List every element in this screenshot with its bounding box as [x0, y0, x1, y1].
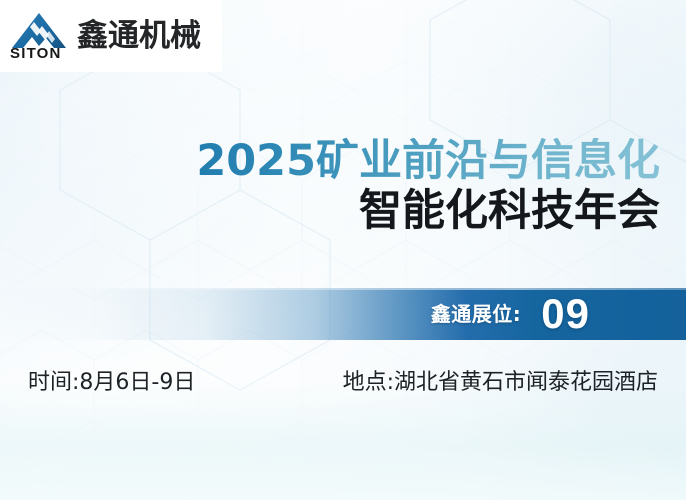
page-title: 2025矿业前沿与信息化 智能化科技年会 — [0, 138, 660, 236]
event-date: 时间:8月6日-9日 — [28, 372, 195, 394]
headline-line-2: 智能化科技年会 — [0, 187, 660, 235]
event-venue: 地点:湖北省黄石市闻泰花园酒店 — [343, 372, 658, 394]
siton-mountain-logo-icon: SITON — [8, 10, 70, 62]
event-details: 时间:8月6日-9日 地点:湖北省黄石市闻泰花园酒店 — [0, 366, 686, 400]
booth-banner: 鑫通展位: 09 — [0, 288, 686, 340]
headline-line-1: 2025矿业前沿与信息化 — [0, 138, 660, 184]
hexagon-pattern-background — [0, 0, 686, 500]
brand-logo: SITON 鑫通机械 — [0, 0, 222, 72]
event-poster: SITON 鑫通机械 2025矿业前沿与信息化 智能化科技年会 鑫通展位: 09… — [0, 0, 686, 500]
booth-number: 09 — [541, 293, 590, 335]
siton-wordmark: SITON — [10, 46, 62, 61]
brand-chinese-name: 鑫通机械 — [77, 21, 201, 52]
booth-label: 鑫通展位: — [431, 304, 522, 324]
